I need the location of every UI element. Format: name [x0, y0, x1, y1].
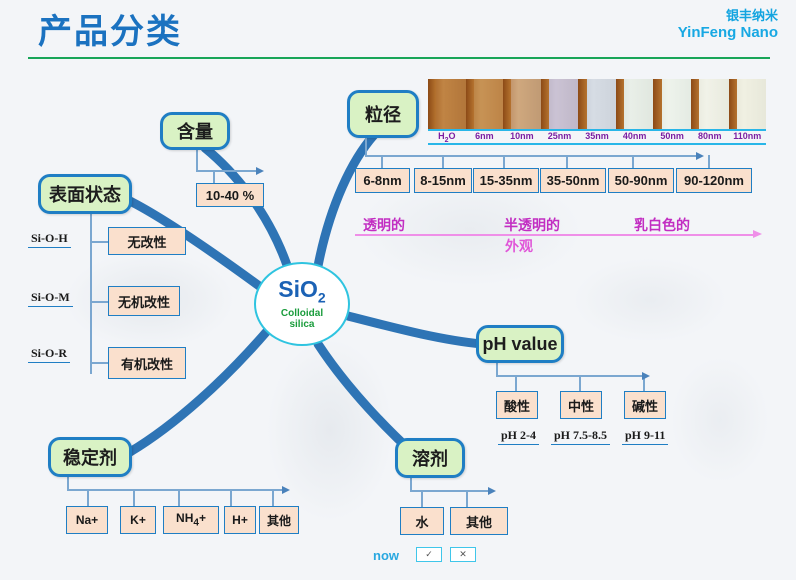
ph-box-label: 中性 — [568, 396, 594, 415]
topic-solvent-label: 溶剂 — [412, 445, 448, 471]
appearance-level-milky: 乳白色的 — [634, 215, 690, 235]
stabilizer-box-h[interactable]: H+ — [224, 506, 256, 534]
vial-sample — [503, 79, 541, 129]
topic-solvent[interactable]: 溶剂 — [395, 438, 465, 478]
stabilizer-box-other[interactable]: 其他 — [259, 506, 299, 534]
topic-particle-size-label: 粒径 — [365, 101, 401, 127]
photo-label: H2O — [428, 131, 466, 143]
appearance-level-transparent: 透明的 — [363, 215, 405, 235]
surface-state-link — [90, 301, 108, 303]
topic-ph-value-label: pH value — [482, 334, 557, 355]
size-drop — [566, 155, 568, 168]
ph-box-neutral[interactable]: 中性 — [560, 391, 602, 419]
vial-sample — [541, 79, 579, 129]
size-drop — [632, 155, 634, 168]
vial-sample — [578, 79, 616, 129]
solvent-rail-arrow — [488, 487, 496, 495]
surface-state-link — [90, 241, 108, 243]
ph-box-alkaline[interactable]: 碱性 — [624, 391, 666, 419]
ph-box-label: 碱性 — [632, 396, 658, 415]
size-drop — [503, 155, 505, 168]
particle-size-range-label: 15-35nm — [480, 173, 533, 188]
stabilizer-box-nh4[interactable]: NH4+ — [163, 506, 219, 534]
content-rail-arrow — [256, 167, 264, 175]
stabilizer-drop — [133, 489, 135, 506]
surface-state-box-label: 有机改性 — [121, 354, 173, 373]
content-value-box[interactable]: 10-40 % — [196, 183, 264, 207]
ph-rail — [496, 375, 644, 377]
topic-surface-state-label: 表面状态 — [49, 181, 121, 207]
particle-size-rail-arrow — [696, 152, 704, 160]
particle-size-range-box[interactable]: 35-50nm — [540, 168, 606, 193]
solvent-drop — [466, 490, 468, 507]
center-node-sio2: SiO2 Colloidalsilica — [254, 262, 350, 346]
topic-stabilizer[interactable]: 稳定剂 — [48, 437, 132, 477]
photo-label: 50nm — [653, 131, 691, 143]
stabilizer-drop — [178, 489, 180, 506]
particle-size-range-box[interactable]: 15-35nm — [473, 168, 539, 193]
ph-box-label: 酸性 — [504, 396, 530, 415]
stabilizer-drop — [272, 489, 274, 506]
stabilizer-rail — [67, 489, 284, 491]
particle-size-connector-vertical — [365, 138, 367, 155]
slide-canvas: 产品分类 银丰纳米 YinFeng Nano SiO2 Colloidalsil… — [0, 0, 796, 580]
particle-size-range-label: 90-120nm — [684, 173, 744, 188]
ph-connector-vertical — [496, 363, 498, 375]
particle-size-range-label: 50-90nm — [615, 173, 668, 188]
surface-state-caption-sior: Si-O-R — [28, 346, 70, 363]
vial-sample — [466, 79, 504, 129]
photo-label: 80nm — [691, 131, 729, 143]
footer-confirm-button[interactable]: ✓ — [416, 547, 442, 562]
ph-rail-arrow — [642, 372, 650, 380]
photo-label: 40nm — [616, 131, 654, 143]
content-value-label: 10-40 % — [206, 188, 254, 203]
stabilizer-box-label: NH4+ — [176, 511, 206, 528]
solvent-box-label: 其他 — [466, 512, 492, 531]
photo-label: 6nm — [466, 131, 504, 143]
photo-label: 10nm — [503, 131, 541, 143]
center-formula: SiO2 — [278, 278, 325, 305]
topic-stabilizer-label: 稳定剂 — [63, 444, 117, 470]
topic-content-label: 含量 — [177, 118, 213, 144]
solvent-drop — [421, 490, 423, 507]
particle-size-range-box[interactable]: 90-120nm — [676, 168, 752, 193]
stabilizer-box-k[interactable]: K+ — [120, 506, 156, 534]
stabilizer-box-label: Na+ — [76, 513, 98, 527]
appearance-rail-arrow — [753, 230, 762, 238]
appearance-caption: 外观 — [505, 236, 533, 256]
ph-caption-alkaline: pH 9-11 — [622, 428, 668, 445]
content-connector-rail — [196, 170, 258, 172]
close-icon: ✕ — [459, 549, 467, 560]
particle-size-range-box[interactable]: 6-8nm — [355, 168, 410, 193]
size-drop — [442, 155, 444, 168]
photo-label: 35nm — [578, 131, 616, 143]
solvent-box-other[interactable]: 其他 — [450, 507, 508, 535]
check-icon: ✓ — [425, 549, 433, 560]
surface-state-box-unmodified[interactable]: 无改性 — [108, 227, 186, 255]
stabilizer-box-label: K+ — [130, 513, 146, 527]
surface-state-link — [90, 362, 108, 364]
surface-state-caption-sioh: Si-O-H — [28, 231, 71, 248]
particle-size-rail — [365, 155, 698, 157]
topic-particle-size[interactable]: 粒径 — [347, 90, 419, 138]
ph-caption-acidic: pH 2-4 — [498, 428, 539, 445]
vial-sample — [653, 79, 691, 129]
ph-caption-neutral: pH 7.5-8.5 — [551, 428, 610, 445]
vial-sample — [691, 79, 729, 129]
surface-state-caption-siom: Si-O-M — [28, 290, 73, 307]
vial-sample — [428, 79, 466, 129]
ph-drop — [579, 375, 581, 391]
stabilizer-rail-arrow — [282, 486, 290, 494]
appearance-level-translucent: 半透明的 — [504, 215, 560, 235]
particle-size-range-label: 6-8nm — [363, 173, 401, 188]
photo-label: 25nm — [541, 131, 579, 143]
content-connector-vertical — [196, 150, 198, 170]
particle-size-range-label: 35-50nm — [547, 173, 600, 188]
vial-sample — [729, 79, 767, 129]
particle-size-range-box[interactable]: 50-90nm — [608, 168, 674, 193]
stabilizer-box-na[interactable]: Na+ — [66, 506, 108, 534]
ph-box-acidic[interactable]: 酸性 — [496, 391, 538, 419]
topic-content[interactable]: 含量 — [160, 112, 230, 150]
footer-close-button[interactable]: ✕ — [450, 547, 476, 562]
vial-sample — [616, 79, 654, 129]
topic-surface-state[interactable]: 表面状态 — [38, 174, 132, 214]
size-drop — [708, 155, 710, 168]
surface-state-box-label: 无机改性 — [118, 292, 170, 311]
solvent-box-label: 水 — [415, 512, 428, 531]
solvent-connector-vertical — [410, 478, 412, 490]
surface-state-box-organic[interactable]: 有机改性 — [108, 347, 186, 379]
photo-label: 110nm — [729, 131, 767, 143]
stabilizer-drop — [87, 489, 89, 506]
surface-state-box-label: 无改性 — [127, 232, 166, 251]
footer-now-label: now — [373, 548, 399, 563]
surface-state-box-inorganic[interactable]: 无机改性 — [108, 286, 180, 316]
particle-size-photo — [428, 79, 766, 131]
center-subtitle: Colloidalsilica — [281, 308, 323, 330]
stabilizer-box-label: H+ — [232, 513, 248, 527]
stabilizer-box-label: 其他 — [267, 512, 291, 529]
stabilizer-drop — [230, 489, 232, 506]
content-connector-drop — [213, 170, 215, 183]
particle-size-range-label: 8-15nm — [420, 173, 466, 188]
size-drop — [381, 155, 383, 168]
surface-state-spine — [90, 214, 92, 374]
solvent-box-water[interactable]: 水 — [400, 507, 444, 535]
ph-drop — [515, 375, 517, 391]
particle-size-photo-labels: H2O 6nm 10nm 25nm 35nm 40nm 50nm 80nm 11… — [428, 131, 766, 145]
particle-size-range-box[interactable]: 8-15nm — [414, 168, 472, 193]
stabilizer-connector-vertical — [67, 477, 69, 489]
topic-ph-value[interactable]: pH value — [476, 325, 564, 363]
